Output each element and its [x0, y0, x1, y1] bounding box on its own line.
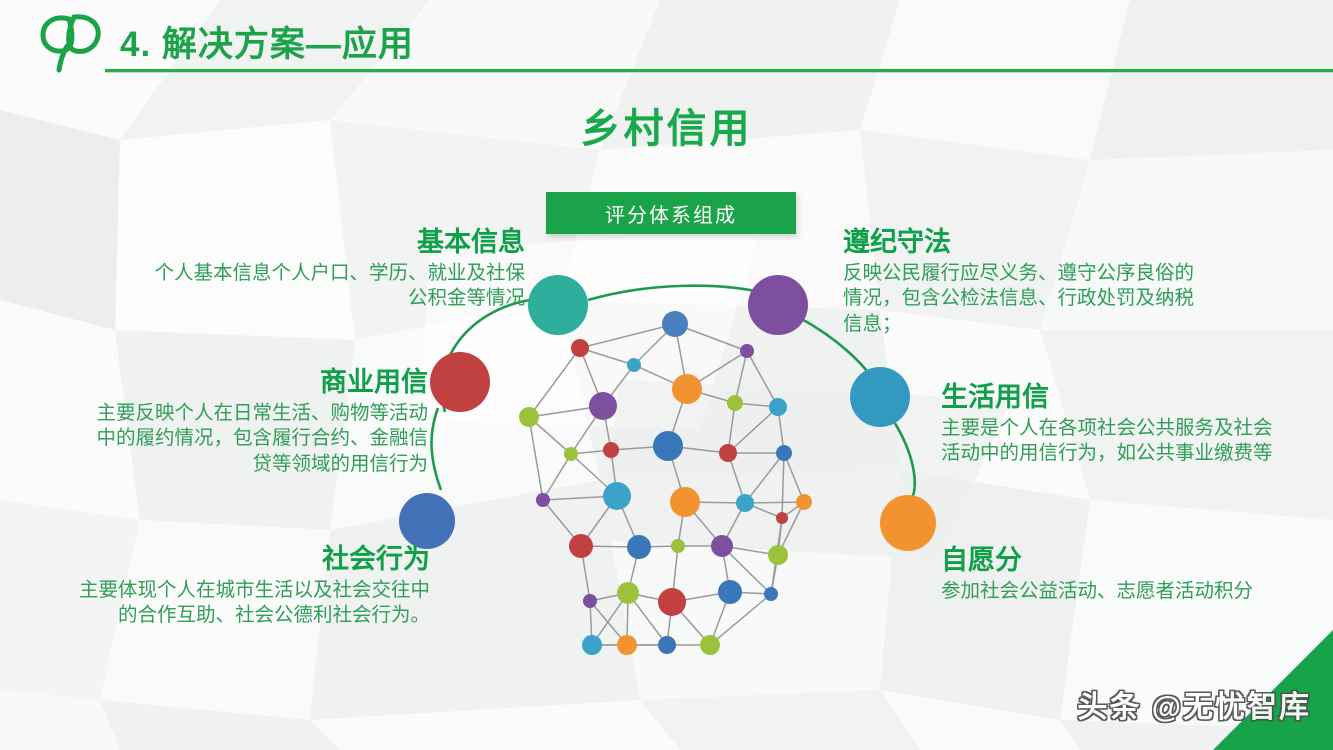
- graph-node: [711, 535, 733, 557]
- graph-edge: [745, 453, 784, 503]
- graph-node: [796, 494, 812, 510]
- block-desc-business-credit: 主要反映个人在日常生活、购物等活动中的履约情况，包含履行合约、金融信贷等领域的用…: [78, 401, 428, 478]
- graph-node: [536, 493, 550, 507]
- graph-node: [617, 582, 639, 604]
- graph-node: [603, 482, 631, 510]
- anchor-node-遵纪守法[interactable]: [748, 275, 808, 335]
- block-desc-voluntary-score: 参加社会公益活动、志愿者活动积分: [941, 579, 1289, 605]
- graph-node: [736, 494, 754, 512]
- block-title-business-credit: 商业用信: [78, 368, 428, 398]
- graph-node: [617, 635, 637, 655]
- watermark-text: 头条 @无忧智库: [1077, 682, 1311, 726]
- block-basic-info: 基本信息 个人基本信息个人户口、学历、就业及社保公积金等情况: [150, 228, 525, 312]
- block-voluntary-score: 自愿分 参加社会公益活动、志愿者活动积分: [941, 546, 1289, 604]
- graph-node: [571, 339, 589, 357]
- page-title: 4. 解决方案—应用: [120, 16, 414, 67]
- block-desc-social-behavior: 主要体现个人在城市生活以及社会交往中的合作互助、社会公德利社会行为。: [60, 578, 430, 629]
- scoring-system-badge[interactable]: 评分体系组成: [546, 192, 796, 234]
- header-divider: [105, 69, 1333, 72]
- graph-edge: [735, 351, 747, 403]
- graph-node: [583, 594, 597, 608]
- graph-node: [627, 535, 651, 559]
- graph-edge: [728, 407, 778, 453]
- graph-node: [589, 392, 617, 420]
- block-title-social-behavior: 社会行为: [60, 545, 430, 575]
- graph-node: [671, 539, 685, 553]
- graph-node: [672, 374, 702, 404]
- anchor-node-社会行为[interactable]: [399, 493, 455, 549]
- graph-node: [670, 487, 700, 517]
- graph-edge: [782, 453, 784, 518]
- graph-edge: [529, 417, 543, 500]
- graph-nodes: [519, 311, 812, 655]
- block-title-life-credit: 生活用信: [941, 383, 1291, 413]
- graph-edge: [580, 324, 675, 348]
- graph-node: [768, 545, 788, 565]
- graph-node: [776, 512, 788, 524]
- block-law-abiding: 遵纪守法 反映公民履行应尽义务、遵守公序良俗的情况，包含公检法信息、行政处罚及纳…: [843, 228, 1203, 338]
- anchor-node-基本信息[interactable]: [528, 275, 588, 335]
- block-desc-basic-info: 个人基本信息个人户口、学历、就业及社保公积金等情况: [150, 261, 525, 312]
- block-business-credit: 商业用信 主要反映个人在日常生活、购物等活动中的履约情况，包含履行合约、金融信贷…: [78, 368, 428, 478]
- graph-node: [769, 398, 787, 416]
- graph-node: [519, 407, 539, 427]
- block-title-basic-info: 基本信息: [150, 228, 525, 258]
- graph-node: [740, 344, 754, 358]
- graph-node: [727, 395, 743, 411]
- graph-node: [582, 635, 602, 655]
- graph-node: [627, 358, 641, 372]
- graph-node: [764, 587, 778, 601]
- anchor-node-自愿分[interactable]: [880, 495, 936, 551]
- block-desc-law-abiding: 反映公民履行应尽义务、遵守公序良俗的情况，包含公检法信息、行政处罚及纳税信息；: [843, 261, 1203, 338]
- block-life-credit: 生活用信 主要是个人在各项社会公共服务及社会活动中的用信行为，如公共事业缴费等: [941, 383, 1291, 467]
- graph-node: [719, 444, 737, 462]
- graph-node: [564, 447, 578, 461]
- block-social-behavior: 社会行为 主要体现个人在城市生活以及社会交往中的合作互助、社会公德利社会行为。: [60, 545, 430, 629]
- slide-root: 4. 解决方案—应用 乡村信用 评分体系组成 基本信息 个人基本信息个人户口、学…: [0, 0, 1333, 750]
- main-title: 乡村信用: [0, 96, 1333, 154]
- graph-node: [658, 588, 686, 616]
- slide-header: 4. 解决方案—应用: [0, 0, 1333, 82]
- graph-node: [662, 311, 688, 337]
- graph-edge: [543, 454, 571, 500]
- graph-node: [718, 580, 742, 604]
- graph-edge: [529, 348, 580, 417]
- leaf-logo-icon: [36, 13, 108, 73]
- block-title-law-abiding: 遵纪守法: [843, 228, 1203, 258]
- graph-node: [569, 534, 593, 558]
- block-title-voluntary-score: 自愿分: [941, 546, 1289, 576]
- graph-node: [776, 445, 792, 461]
- graph-node: [603, 442, 619, 458]
- block-desc-life-credit: 主要是个人在各项社会公共服务及社会活动中的用信行为，如公共事业缴费等: [941, 416, 1291, 467]
- anchor-node-生活用信[interactable]: [850, 367, 910, 427]
- graph-node: [700, 635, 720, 655]
- graph-node: [658, 636, 676, 654]
- anchor-node-商业用信[interactable]: [430, 352, 490, 412]
- graph-node: [653, 431, 683, 461]
- graph-edge: [747, 351, 778, 407]
